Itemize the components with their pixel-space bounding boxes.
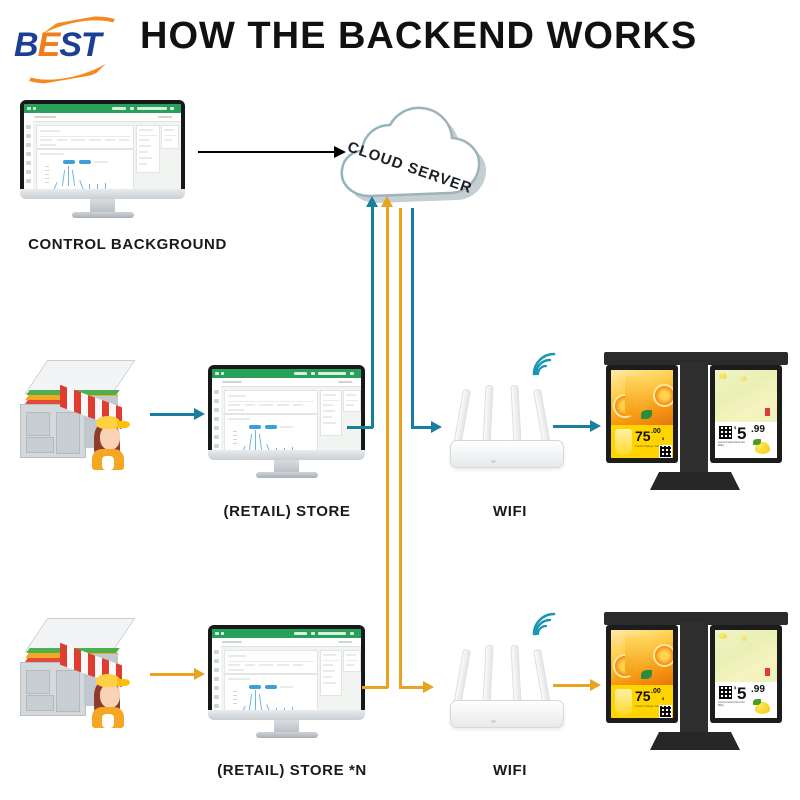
store-clerk-avatar [88, 670, 134, 728]
dashboard-line-chart [224, 414, 318, 454]
diagram-canvas: BEST HOW THE BACKEND WORKS [0, 0, 800, 800]
dashboard-table-card [224, 650, 318, 674]
retail-store-label: (RETAIL) STORE [195, 503, 379, 520]
router-antenna-2 [482, 385, 493, 445]
qr-code-icon-left [659, 705, 672, 718]
cloud-server-node: CLOUD SERVER [330, 92, 495, 212]
dashboard-list-card-2 [343, 650, 361, 672]
wifi-router-top [450, 385, 568, 475]
trunk-line-teal-upload [371, 206, 374, 428]
digital-signage-top: 75 .00 $ Fresh Orange Juice $ [598, 352, 794, 500]
dashboard-table-card [36, 125, 134, 149]
lemon-leaf-icon [753, 699, 761, 705]
trunk-line-orange-download [399, 208, 402, 688]
arrow-control-to-cloud [198, 151, 336, 153]
monitor-screen [212, 369, 361, 454]
qr-code-icon-right [718, 425, 733, 440]
monitor-chin [20, 189, 185, 199]
dashboard-ui [212, 369, 361, 454]
product-detail-right: Lemon Fresh Citrus Net 500g [718, 441, 750, 455]
signage-screen-right: $ 5 .99 Lemon Fresh Citrus Net 500g [715, 370, 777, 458]
retail-store-n-monitor [208, 625, 365, 733]
clerk-cap-brim [117, 421, 130, 428]
monitor-chin [208, 450, 365, 460]
connector-trunk-to-wifi-top [411, 426, 433, 429]
monitor-base [256, 732, 318, 738]
trunk-line-orange-upload [386, 206, 389, 688]
signage-base [650, 732, 740, 750]
monitor-bezel [20, 100, 185, 197]
router-body [450, 440, 564, 468]
price-unit-left: $ [662, 696, 664, 701]
price-panel-left: 75 .00 $ Fresh Orange Juice [611, 685, 673, 718]
price-panel-left: 75 .00 $ Fresh Orange Juice [611, 425, 673, 458]
dashboard-list-card-1 [320, 650, 342, 696]
connector-trunk-to-wifi-bottom [399, 686, 425, 689]
dashboard-breadcrumb-bar [212, 378, 361, 387]
store-roof [25, 360, 136, 394]
signage-display-right: $ 5 .99 Lemon Fresh Citrus Net 500g [710, 365, 782, 463]
monitor-screen [24, 104, 181, 193]
store-clerk-avatar [88, 412, 134, 470]
arrowhead-orange-to-cloud [381, 196, 393, 207]
price-main-right: 5 [737, 425, 746, 442]
price-main-left: 75 [635, 689, 651, 703]
price-cents-left: .00 [651, 688, 661, 695]
wifi-label-bottom: WIFI [440, 762, 580, 779]
signage-screen-left: 75 .00 $ Fresh Orange Juice [611, 370, 673, 458]
logo-wordmark: BEST [14, 26, 101, 65]
dashboard-list-card-1 [136, 125, 160, 173]
dashboard-header-bar [212, 369, 361, 378]
clerk-shirt [102, 456, 114, 470]
signage-column [680, 362, 708, 474]
signage-screen-right: $ 5 .99 Lemon Fresh Citrus Net 500g [715, 630, 777, 718]
retail-store-illustration [12, 360, 142, 470]
store-window-2 [26, 437, 54, 453]
orange-slice-2 [653, 644, 673, 667]
arrow-store-to-monitor-top [150, 413, 196, 416]
product-detail-right: Lemon Fresh Citrus Net 500g [718, 701, 750, 715]
retail-store-monitor [208, 365, 365, 473]
clerk-face [100, 426, 120, 450]
signage-display-right: $ 5 .99 Lemon Fresh Citrus Net 500g [710, 625, 782, 723]
price-currency-right: $ [734, 685, 736, 690]
router-antenna-4 [533, 389, 551, 448]
dashboard-breadcrumb-bar [212, 638, 361, 647]
store-window-2 [26, 695, 54, 711]
monitor-chin [208, 710, 365, 720]
wifi-signal-icon [528, 610, 558, 638]
arrowhead-trunk-to-wifi-bottom [423, 681, 434, 693]
retail-store-n-label: (RETAIL) STORE *N [186, 762, 398, 779]
store-door [56, 670, 80, 712]
signage-display-left: 75 .00 $ Fresh Orange Juice [606, 625, 678, 723]
monitor-bezel [208, 625, 365, 718]
arrowhead-store-to-monitor-bottom [194, 668, 205, 680]
qr-code-icon-left [659, 445, 672, 458]
router-body [450, 700, 564, 728]
dashboard-table-card [224, 390, 318, 414]
dashboard-ui [24, 104, 181, 193]
lemon-photo [715, 630, 777, 682]
clerk-face [100, 684, 120, 708]
wifi-label-top: WIFI [440, 503, 580, 520]
price-panel-right: $ 5 .99 Lemon Fresh Citrus Net 500g [715, 682, 777, 718]
logo-letter-b: B [14, 26, 38, 64]
mint-leaf-icon [641, 410, 652, 419]
router-antenna-4 [533, 649, 551, 708]
arrow-store-to-monitor-bottom [150, 673, 196, 676]
best-logo: BEST [8, 14, 128, 74]
dashboard-list-card-2 [343, 390, 361, 412]
orange-juice-photo [611, 370, 673, 425]
price-main-left: 75 [635, 429, 651, 443]
store-window-1 [26, 412, 50, 436]
arrow-wifi-to-signage-top [553, 425, 593, 428]
price-panel-glass [615, 429, 632, 455]
control-background-monitor [20, 100, 185, 210]
digital-signage-bottom: 75 .00 $ Fresh Orange Juice $ 5 [598, 612, 794, 760]
arrowhead-store-to-monitor-top [194, 408, 205, 420]
price-panel-right: $ 5 .99 Lemon Fresh Citrus Net 500g [715, 422, 777, 458]
control-background-label: CONTROL BACKGROUND [10, 236, 245, 253]
router-antenna-3 [510, 645, 521, 705]
signage-column [680, 622, 708, 734]
page-title: HOW THE BACKEND WORKS [140, 16, 740, 58]
router-antenna-3 [510, 385, 521, 445]
dashboard-breadcrumb-bar [24, 113, 181, 122]
logo-letters-st: ST [59, 26, 100, 64]
dashboard-header-bar [212, 629, 361, 638]
router-antenna-1 [453, 649, 471, 708]
monitor-neck [90, 199, 115, 213]
monitor-screen [212, 629, 361, 714]
arrow-wifi-to-signage-bottom [553, 684, 593, 687]
signage-screen-left: 75 .00 $ Fresh Orange Juice [611, 630, 673, 718]
price-cents-right: .99 [751, 684, 765, 695]
monitor-bezel [208, 365, 365, 458]
router-antenna-2 [482, 645, 493, 705]
price-panel-glass [615, 689, 632, 715]
store-door [56, 412, 80, 454]
dashboard-sidebar [212, 646, 221, 714]
monitor-base [256, 472, 318, 478]
orange-slice-2 [653, 384, 673, 407]
wifi-router-bottom [450, 645, 568, 735]
price-main-right: 5 [737, 685, 746, 702]
dashboard-line-chart [36, 149, 134, 193]
store-roof [25, 618, 136, 652]
arrowhead-teal-to-cloud [366, 196, 378, 207]
mint-leaf-icon [641, 670, 652, 679]
dashboard-line-chart [224, 674, 318, 714]
dashboard-sidebar [212, 386, 221, 454]
connector-monitor-to-trunk-bottom [362, 686, 388, 689]
logo-letter-e: E [38, 26, 60, 64]
router-antenna-1 [453, 389, 471, 448]
monitor-base [72, 212, 134, 218]
price-cents-right: .99 [751, 424, 765, 435]
orange-juice-photo [611, 630, 673, 685]
signage-display-left: 75 .00 $ Fresh Orange Juice [606, 365, 678, 463]
store-window-1 [26, 670, 50, 694]
connector-monitor-to-trunk-top [347, 426, 373, 429]
retail-store-n-illustration [12, 618, 142, 728]
dashboard-list-card-1 [320, 390, 342, 436]
trunk-line-teal-download [411, 208, 414, 428]
price-unit-left: $ [662, 436, 664, 441]
arrowhead-trunk-to-wifi-top [431, 421, 442, 433]
dashboard-sidebar [24, 121, 33, 193]
qr-code-icon-right [718, 685, 733, 700]
clerk-shirt [102, 714, 114, 728]
lemon-leaf-icon [753, 439, 761, 445]
price-cents-left: .00 [651, 428, 661, 435]
wifi-signal-icon [528, 350, 558, 378]
dashboard-list-card-2 [161, 125, 179, 149]
clerk-cap-brim [117, 679, 130, 686]
dashboard-header-bar [24, 104, 181, 113]
dashboard-ui [212, 629, 361, 714]
price-currency-right: $ [734, 425, 736, 430]
lemon-photo [715, 370, 777, 422]
signage-base [650, 472, 740, 490]
